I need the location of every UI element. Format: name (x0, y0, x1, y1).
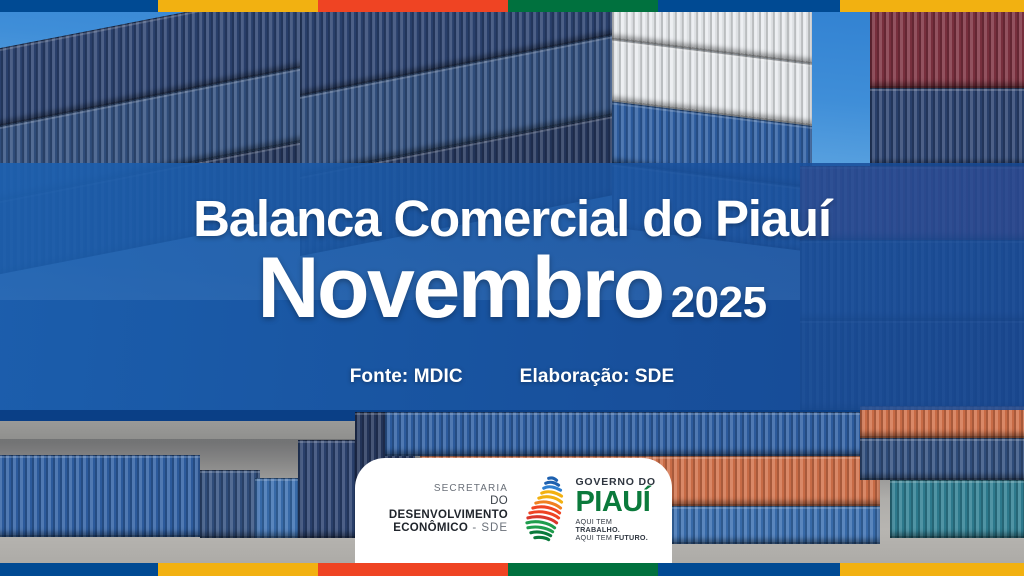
page-title: Balanca Comercial do Piauí (0, 193, 1024, 244)
bottom-stripe-segment-4 (508, 563, 658, 576)
governo-text-block: GOVERNO DO PIAUÍ AQUI TEM TRABALHO. AQUI… (575, 477, 658, 542)
sde-line-desenvolvimento: DO DESENVOLVIMENTO (369, 495, 508, 522)
governo-slogan-trabalho: AQUI TEM TRABALHO. (575, 518, 658, 534)
top-stripe-segment-3 (318, 0, 508, 12)
piaui-map-icon (519, 474, 568, 546)
top-stripe-segment-6 (840, 0, 1024, 12)
credit-author: Elaboração: SDE (520, 366, 675, 388)
sde-logo: SECRETARIA DO DESENVOLVIMENTO ECONÔMICO … (369, 483, 508, 535)
sde-line-secretaria: SECRETARIA (369, 483, 508, 495)
sde-line-economico: ECONÔMICO - SDE (369, 522, 508, 536)
governo-line-piaui: PIAUÍ (575, 489, 658, 517)
bottom-stripe-bar (0, 563, 1024, 576)
container-teal-lower-right (890, 480, 1024, 538)
bottom-stripe-segment-2 (158, 563, 318, 576)
slogan-prefix-2: AQUI TEM (575, 533, 614, 542)
sde-do-prefix: DO (490, 495, 508, 507)
container-orange-lower-right (860, 406, 1024, 438)
balanca-comercial-banner: Balanca Comercial do Piauí Novembro 2025… (0, 0, 1024, 576)
slogan-futuro: FUTURO. (614, 533, 648, 542)
bottom-stripe-segment-5 (658, 563, 840, 576)
top-stripe-segment-4 (508, 0, 658, 12)
governo-piaui-logo: GOVERNO DO PIAUÍ AQUI TEM TRABALHO. AQUI… (519, 474, 658, 546)
top-stripe-segment-5 (658, 0, 840, 12)
top-stripe-segment-2 (158, 0, 318, 12)
top-stripe-bar (0, 0, 1024, 12)
bottom-stripe-segment-1 (0, 563, 158, 576)
governo-slogan-futuro: AQUI TEM FUTURO. (575, 534, 658, 542)
container-navy-lower-small (298, 440, 358, 538)
logo-card: SECRETARIA DO DESENVOLVIMENTO ECONÔMICO … (355, 458, 672, 563)
sde-suffix: - SDE (468, 522, 508, 534)
sde-desenvolvimento: DESENVOLVIMENTO (389, 509, 508, 521)
title-band: Balanca Comercial do Piauí Novembro 2025… (0, 163, 1024, 410)
container-navy-lower-left (200, 470, 260, 538)
top-stripe-segment-1 (0, 0, 158, 12)
title-period: Novembro 2025 (0, 245, 1024, 331)
container-blue-lower-wide (385, 412, 885, 456)
title-year: 2025 (671, 281, 767, 325)
bottom-stripe-segment-3 (318, 563, 508, 576)
bottom-stripe-segment-6 (840, 563, 1024, 576)
container-blue-lower-far-left (0, 455, 200, 537)
container-navy-right (870, 88, 1024, 166)
title-month: Novembro (257, 245, 662, 331)
sde-economico: ECONÔMICO (393, 522, 468, 534)
container-maroon-right (870, 0, 1024, 88)
container-navy-lower-right (860, 438, 1024, 480)
credits-row: Fonte: MDIC Elaboração: SDE (0, 366, 1024, 388)
credit-source: Fonte: MDIC (350, 366, 463, 388)
